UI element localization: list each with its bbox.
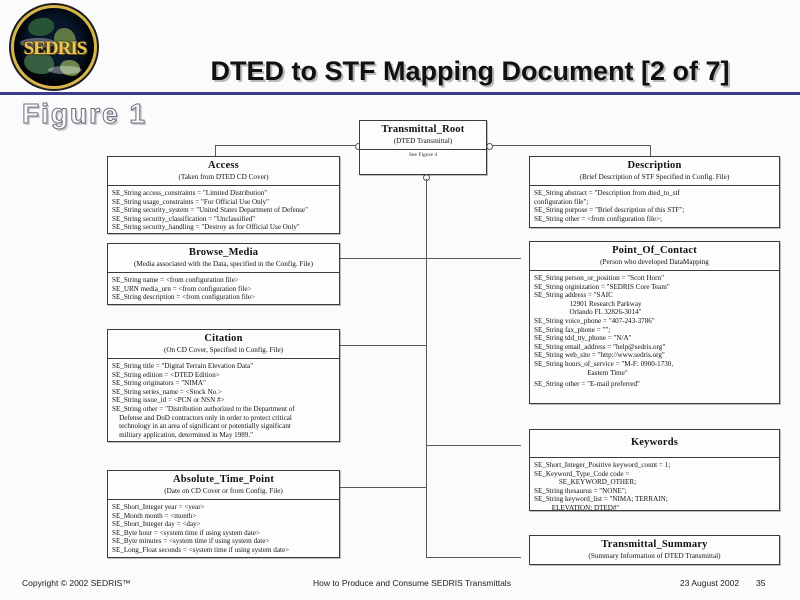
attr-row: SE_Byte minutes = <system time if using … — [112, 537, 336, 546]
attr-row: technology in an area of significant or … — [112, 422, 336, 431]
attr-row: SE_String other = "E-mail preferred" — [534, 380, 776, 389]
attr-row: SE_Short_Integer year = <year> — [112, 503, 336, 512]
node-title: Point_Of_Contact — [532, 245, 777, 257]
figure-label: Figure 1 — [22, 98, 147, 130]
node-header: Access (Taken from DTED CD Cover) — [108, 157, 339, 186]
attr-row: SE_String other = "Distribution authoriz… — [112, 405, 336, 414]
attr-row: SE_String address = "SAIC — [534, 291, 776, 300]
attr-row: SE_URN media_urn = <from configuration f… — [112, 285, 336, 294]
node-attributes: SE_String title = "Digital Terrain Eleva… — [108, 359, 339, 442]
connector-citation — [330, 345, 426, 346]
attr-row: SE_String access_constraints = "Limited … — [112, 189, 336, 198]
node-absolute-time-point[interactable]: Absolute_Time_Point (Date on CD Cover or… — [107, 470, 340, 558]
node-title: Browse_Media — [110, 247, 337, 259]
node-subtitle: (Person who developed DataMapping — [532, 258, 777, 267]
node-header: Transmittal_Root (DTED Transmittal) — [360, 121, 486, 150]
attr-row: SE_Long_Float seconds = <system time if … — [112, 546, 336, 555]
attr-row: configuration file"; — [534, 198, 776, 207]
node-subtitle: (On CD Cover, Specified in Config. File) — [110, 346, 337, 355]
port-root-right — [486, 143, 493, 150]
node-attributes: SE_Short_Integer_Positive keyword_count … — [530, 458, 779, 516]
footer-copyright: Copyright © 2002 SEDRIS™ — [22, 578, 131, 588]
attr-row: military application, determined in May … — [112, 431, 336, 440]
node-subtitle: (Brief Description of STF Specified in C… — [532, 173, 777, 182]
node-transmittal-root[interactable]: Transmittal_Root (DTED Transmittal) See … — [359, 120, 487, 175]
node-title: Keywords — [532, 437, 777, 449]
node-title: Transmittal_Root — [362, 124, 484, 136]
attr-row: SE_String tdd_tty_phone = "N/A" — [534, 334, 776, 343]
node-title: Transmittal_Summary — [532, 539, 777, 551]
node-header: Citation (On CD Cover, Specified in Conf… — [108, 330, 339, 359]
attr-row: SE_String thesaurus = "NONE"; — [534, 487, 776, 496]
footer-page-number: 35 — [756, 578, 765, 588]
page-title: DTED to STF Mapping Document [2 of 7] — [150, 52, 790, 90]
slide-canvas: SEDRIS DTED to STF Mapping Document [2 o… — [0, 0, 800, 600]
attr-row: SE_String security_system = "United Stat… — [112, 206, 336, 215]
node-subtitle: (Media associated with the Data, specifi… — [110, 260, 337, 269]
node-subtitle: (Summary Information of DTED Transmittal… — [532, 552, 777, 561]
node-header: Description (Brief Description of STF Sp… — [530, 157, 779, 186]
attr-row: SE_Byte hour = <system time if using sys… — [112, 529, 336, 538]
attr-row: 12901 Research Parkway — [534, 300, 776, 309]
node-header: Transmittal_Summary (Summary Information… — [530, 536, 779, 564]
connector-point-of-contact — [426, 258, 521, 259]
node-citation[interactable]: Citation (On CD Cover, Specified in Conf… — [107, 329, 340, 442]
attr-row: SE_String other = <from configuration fi… — [534, 215, 776, 224]
attr-row: SE_String issue_id = <PCN or NSN #> — [112, 396, 336, 405]
node-attributes: SE_String abstract = "Description from d… — [530, 186, 779, 226]
node-browse-media[interactable]: Browse_Media (Media associated with the … — [107, 243, 340, 305]
attr-row: SE_String email_address = "help@sedris.o… — [534, 343, 776, 352]
footer-date: 23 August 2002 — [680, 578, 739, 588]
node-subtitle: (Date on CD Cover or from Config. File) — [110, 487, 337, 496]
node-header: Absolute_Time_Point (Date on CD Cover or… — [108, 471, 339, 500]
connector-transmittal-summary — [426, 557, 521, 558]
attr-row: Eastern Time" — [534, 369, 776, 378]
attr-row: Defense and DoD contractors only in orde… — [112, 414, 336, 423]
node-title: Access — [110, 160, 337, 172]
sedris-logo-icon: SEDRIS — [11, 8, 97, 86]
logo-wordmark: SEDRIS — [17, 38, 93, 60]
connector-trunk — [426, 179, 427, 558]
attr-row: SE_KEYWORD_OTHER; — [534, 478, 776, 487]
attr-row: SE_Short_Integer day = <day> — [112, 520, 336, 529]
attr-row: SE_String name = <from configuration fil… — [112, 276, 336, 285]
node-subtitle: (Taken from DTED CD Cover) — [110, 173, 337, 182]
attr-row: SE_String orginization = "SEDRIS Core Te… — [534, 283, 776, 292]
attr-row: SE_String description = <from configurat… — [112, 293, 336, 302]
node-header: Browse_Media (Media associated with the … — [108, 244, 339, 273]
attr-row: SE_Keyword_Type_Code code = — [534, 470, 776, 479]
connector-root-left — [215, 145, 360, 146]
node-keywords[interactable]: Keywords SE_Short_Integer_Positive keywo… — [529, 429, 780, 511]
attr-row: SE_Month month = <month> — [112, 512, 336, 521]
attr-row: SE_String title = "Digital Terrain Eleva… — [112, 362, 336, 371]
node-access[interactable]: Access (Taken from DTED CD Cover) SE_Str… — [107, 156, 340, 234]
attr-row: SE_String usage_constraints = "For Offic… — [112, 198, 336, 207]
node-description[interactable]: Description (Brief Description of STF Sp… — [529, 156, 780, 228]
node-attributes: SE_String access_constraints = "Limited … — [108, 186, 339, 235]
node-attributes: SE_Short_Integer year = <year> SE_Month … — [108, 500, 339, 558]
title-divider — [0, 92, 800, 95]
node-subtitle: (DTED Transmittal) — [362, 137, 484, 146]
node-title: Absolute_Time_Point — [110, 474, 337, 486]
attr-row: SE_Short_Integer_Positive keyword_count … — [534, 461, 776, 470]
attr-row: ELEVATION; DTED#" — [534, 504, 776, 513]
connector-browse-media — [330, 258, 426, 259]
attr-row: SE_String abstract = "Description from d… — [534, 189, 776, 198]
node-title: Citation — [110, 333, 337, 345]
connector-keywords — [426, 445, 521, 446]
node-header: Point_Of_Contact (Person who developed D… — [530, 242, 779, 271]
attr-row: SE_String voice_phone = "407-243-3786" — [534, 317, 776, 326]
attr-row: SE_String security_handling = "Destroy a… — [112, 223, 336, 232]
connector-root-right — [490, 145, 650, 146]
attr-row: SE_String edition = <DTED Edition> — [112, 371, 336, 380]
attr-row: SE_String originators = "NIMA" — [112, 379, 336, 388]
attr-row: SE_String purpose = "Brief description o… — [534, 206, 776, 215]
footer-center-title: How to Produce and Consume SEDRIS Transm… — [313, 578, 511, 588]
attr-row: SE_String hours_of_service = "M-F: 0900-… — [534, 360, 776, 369]
node-point-of-contact[interactable]: Point_Of_Contact (Person who developed D… — [529, 241, 780, 404]
node-footnote: See Figure 4 — [360, 150, 486, 161]
node-attributes: SE_String name = <from configuration fil… — [108, 273, 339, 305]
node-title: Description — [532, 160, 777, 172]
node-transmittal-summary[interactable]: Transmittal_Summary (Summary Information… — [529, 535, 780, 565]
node-attributes: SE_String person_or_position = "Scott Ho… — [530, 271, 779, 392]
attr-row: SE_String security_classification = "Unc… — [112, 215, 336, 224]
connector-absolute-time-point — [330, 487, 426, 488]
attr-row: Orlando FL 32826-3014" — [534, 308, 776, 317]
node-header: Keywords — [530, 430, 779, 458]
attr-row: SE_String web_site = "http://www.sedris.… — [534, 351, 776, 360]
attr-row: SE_String keyword_list = "NIMA; TERRAIN; — [534, 495, 776, 504]
attr-row: SE_String fax_phone = ""; — [534, 326, 776, 335]
attr-row: SE_String person_or_position = "Scott Ho… — [534, 274, 776, 283]
attr-row: SE_String series_name = <Stock No.> — [112, 388, 336, 397]
